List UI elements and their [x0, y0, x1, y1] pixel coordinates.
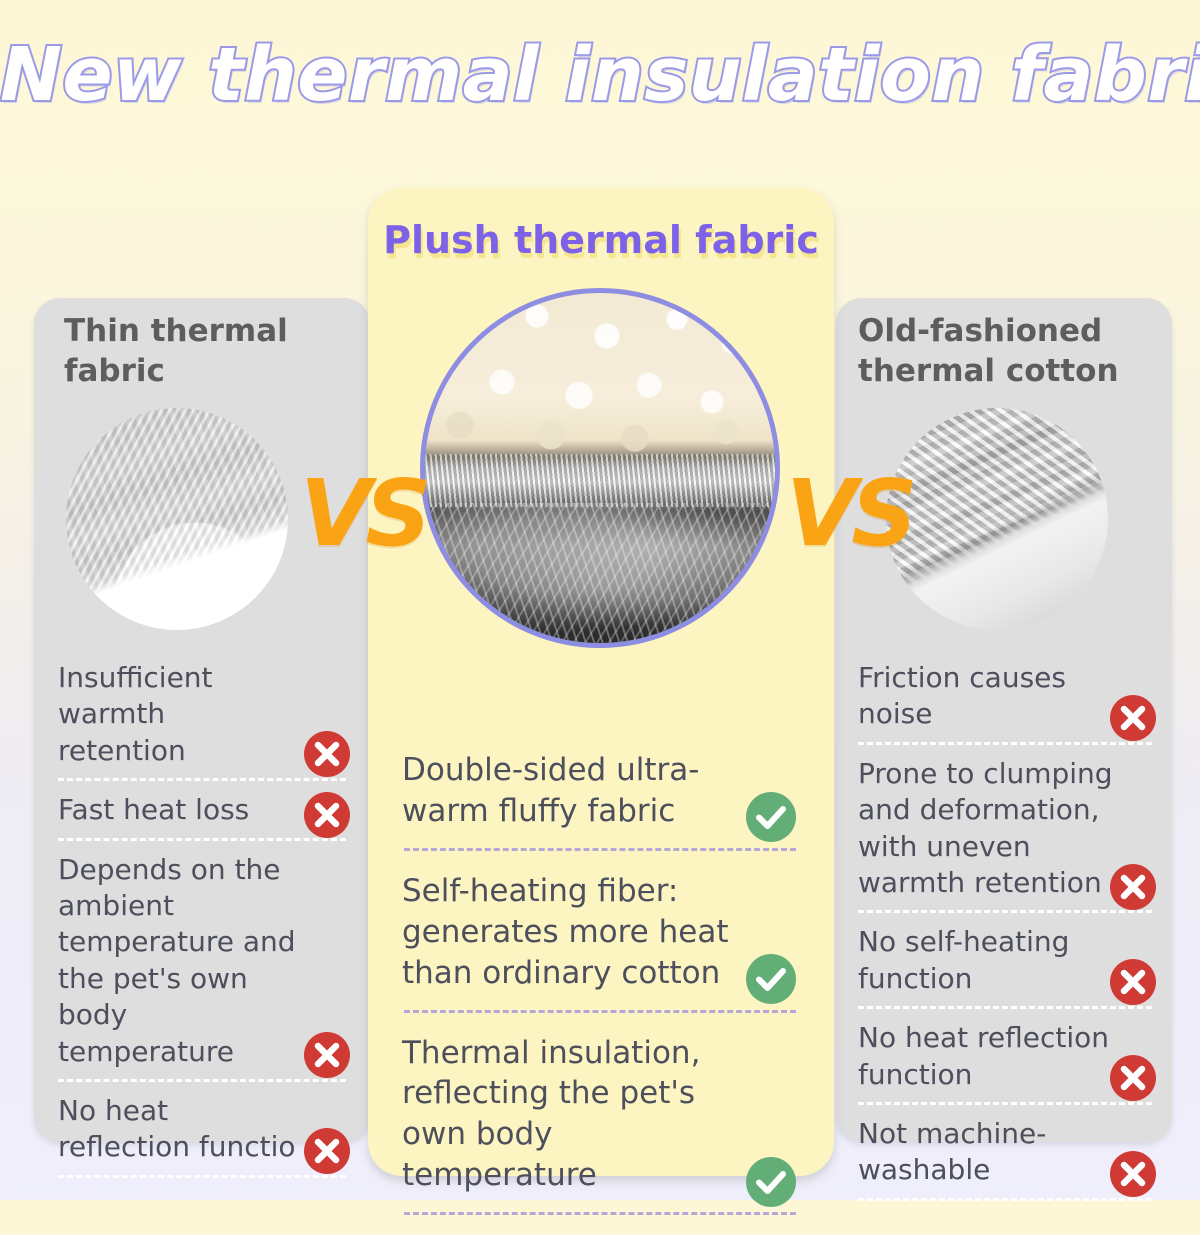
card-left-heading: Thin thermal fabric — [64, 312, 348, 391]
feature-separator — [404, 848, 796, 851]
card-center-feature-list: Double-sided ultra-warm fluffy fabricSel… — [368, 750, 834, 1235]
feature-separator — [858, 910, 1152, 913]
feature-item-text: Not machine-washable — [858, 1116, 1152, 1189]
feature-separator — [858, 1006, 1152, 1009]
cross-icon — [304, 792, 350, 838]
vs-badge-right: VS — [786, 468, 911, 560]
cross-icon — [1110, 1055, 1156, 1101]
feature-item-text: Fast heat loss — [58, 792, 346, 828]
feature-separator — [858, 1102, 1152, 1105]
thin-fabric-image — [66, 408, 288, 630]
feature-item-text: No heat reflection functio — [58, 1093, 346, 1166]
check-icon — [746, 792, 796, 842]
feature-item: Not machine-washable — [858, 1116, 1152, 1189]
plush-fabric-image — [420, 288, 780, 648]
check-icon — [746, 954, 796, 1004]
feature-separator — [404, 1010, 796, 1013]
feature-separator — [404, 1212, 796, 1215]
card-right-feature-list: Friction causes noiseProne to clumping a… — [836, 660, 1172, 1212]
feature-item-text: Insufficient warmth retention — [58, 660, 346, 769]
feature-item: Fast heat loss — [58, 792, 346, 828]
feature-item: Insufficient warmth retention — [58, 660, 346, 769]
feature-item: Self-heating fiber: generates more heat … — [402, 871, 798, 994]
feature-separator — [58, 1079, 346, 1082]
feature-item-text: No self-heating function — [858, 924, 1152, 997]
feature-item-text: No heat reflection function — [858, 1020, 1152, 1093]
feature-item: Prone to clumping and deformation, with … — [858, 756, 1152, 902]
feature-item-text: Self-heating fiber: generates more heat … — [402, 871, 798, 994]
feature-separator — [858, 742, 1152, 745]
cross-icon — [304, 1032, 350, 1078]
fiber-bottom-layer-texture — [425, 503, 775, 643]
feature-separator — [58, 1175, 346, 1178]
cross-icon — [1110, 1151, 1156, 1197]
feature-item: No heat reflection functio — [58, 1093, 346, 1166]
feature-separator — [858, 1198, 1152, 1201]
cross-icon — [1110, 695, 1156, 741]
reflective-mid-layer-texture — [425, 454, 775, 507]
feature-item: Double-sided ultra-warm fluffy fabric — [402, 750, 798, 832]
cross-icon — [1110, 864, 1156, 910]
cross-icon — [1110, 959, 1156, 1005]
vs-badge-left: VS — [300, 468, 425, 560]
feature-item: Thermal insulation, reflecting the pet's… — [402, 1033, 798, 1197]
cross-icon — [304, 731, 350, 777]
feature-item: Friction causes noise — [858, 660, 1152, 733]
feature-item-text: Friction causes noise — [858, 660, 1152, 733]
thermal-cotton-image — [886, 408, 1108, 630]
feature-item-text: Double-sided ultra-warm fluffy fabric — [402, 750, 798, 832]
feature-item: No self-heating function — [858, 924, 1152, 997]
feature-separator — [58, 778, 346, 781]
plush-top-layer-texture — [425, 293, 775, 458]
card-left-feature-list: Insufficient warmth retentionFast heat l… — [34, 660, 370, 1189]
thin-fabric-texture — [66, 408, 288, 630]
card-right-heading: Old-fashioned thermal cotton — [858, 312, 1152, 391]
check-icon — [746, 1157, 796, 1207]
foil-texture — [886, 408, 1108, 630]
feature-item: No heat reflection function — [858, 1020, 1152, 1093]
feature-item-text: Prone to clumping and deformation, with … — [858, 756, 1152, 902]
page-title-wrapper: New thermal insulation fabric — [0, 32, 1200, 118]
card-center-heading: Plush thermal fabric — [368, 218, 834, 262]
feature-item-text: Depends on the ambient temperature and t… — [58, 852, 346, 1070]
cross-icon — [304, 1128, 350, 1174]
feature-item: Depends on the ambient temperature and t… — [58, 852, 346, 1070]
page-title: New thermal insulation fabric — [0, 32, 1200, 118]
feature-separator — [58, 838, 346, 841]
feature-item-text: Thermal insulation, reflecting the pet's… — [402, 1033, 798, 1197]
